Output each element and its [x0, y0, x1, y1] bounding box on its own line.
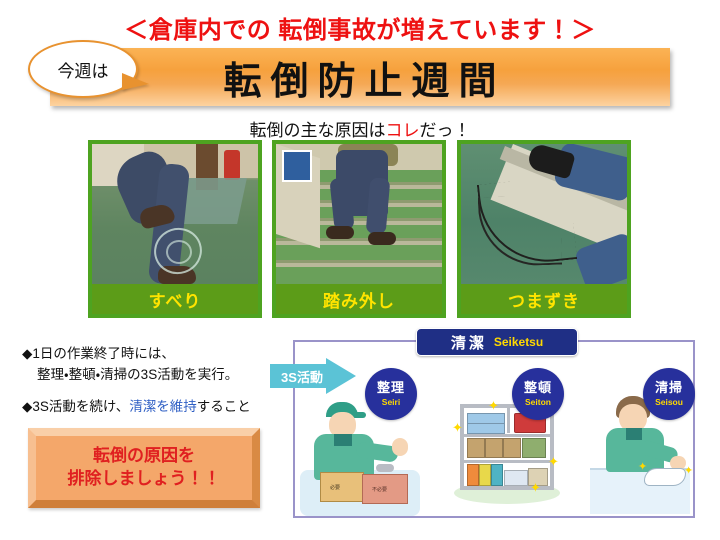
panel-rule-right — [576, 340, 695, 342]
photo-card-trip: つまずき — [457, 140, 631, 318]
shelf-item-tray-2 — [467, 423, 505, 434]
sparkle-icon: ✦ — [638, 460, 647, 473]
worker-hand — [392, 438, 408, 456]
badge-seiton: 整頓 Seiton — [512, 368, 564, 420]
bullet-1-line-2: 整理・整頓・清掃の3S活動を実行。 — [37, 365, 238, 386]
safety-poster: ＜倉庫内での 転倒事故が増えています！＞ 転倒防止週間 今週は 転倒の主な原因は… — [0, 0, 720, 540]
shelf-item-drawer-2 — [485, 438, 503, 458]
speech-bubble-tail — [122, 74, 148, 89]
bullet-1-continuation: 整理・整頓・清掃の3S活動を実行。 — [37, 365, 292, 386]
cta-line-1: 転倒の原因を — [93, 445, 195, 468]
subtitle-highlight: コレ — [386, 121, 420, 140]
photo-floor-mat — [179, 178, 247, 224]
badge-seiri: 整理 Seiri — [365, 368, 417, 420]
shelf-item-books — [522, 438, 546, 458]
sorted-part-icon — [376, 464, 394, 472]
shelf-divider — [507, 408, 510, 433]
badge-seiri-romaji: Seiri — [382, 397, 400, 407]
box-unneeded-label: 不必要 — [372, 486, 387, 493]
badge-seisou-ja: 清掃 — [655, 381, 683, 395]
photo-person-shoe-right — [368, 232, 396, 245]
sparkle-icon: ✦ — [452, 420, 463, 436]
badge-seisou-romaji: Seisou — [655, 397, 683, 407]
bullet-2-prefix: ◆3S活動を続け、 — [22, 397, 129, 418]
cleaning-cloth — [644, 468, 686, 486]
badge-seiri-ja: 整理 — [377, 381, 405, 395]
bullet-2-highlight: 清潔を維持 — [129, 397, 197, 418]
box-needed — [320, 472, 364, 502]
photo-wet-patch-inner — [166, 240, 192, 264]
photo-image-misstep — [276, 144, 442, 284]
badge-seisou: 清掃 Seisou — [643, 368, 695, 420]
speech-bubble-label: 今週は — [58, 57, 109, 82]
photo-person-shoe-left — [326, 226, 354, 239]
photo-card-misstep: 踏み外し — [272, 140, 446, 318]
call-to-action-box: 転倒の原因を 排除しましょう！！ — [28, 428, 260, 508]
shelf-item-file — [504, 470, 528, 486]
shelf-item-drawer-3 — [503, 438, 521, 458]
photo-caption: すべり — [92, 284, 258, 314]
photo-wall-poster — [282, 150, 312, 182]
bullet-item-1: ◆1日の作業終了時には、 — [22, 344, 292, 365]
photo-caption: つまずき — [461, 284, 627, 314]
badge-seiton-ja: 整頓 — [524, 381, 552, 395]
fire-extinguisher-icon — [224, 150, 240, 180]
photo-caption: 踏み外し — [276, 284, 442, 314]
shelf-item-drawer-1 — [467, 438, 485, 458]
shelf-item-bottle-2 — [479, 464, 491, 486]
subtitle-prefix: 転倒の主な原因は — [250, 121, 386, 140]
worker-collar — [334, 434, 352, 446]
cta-line-2: 排除しましょう！！ — [68, 468, 221, 491]
badge-seiton-romaji: Seiton — [525, 397, 551, 407]
photo-stair-1 — [276, 266, 442, 284]
photo-image-slip — [92, 144, 258, 284]
sparkle-icon: ✦ — [548, 454, 559, 470]
seiketsu-badge-romaji: Seiketsu — [494, 335, 543, 349]
page-headline: ＜倉庫内での 転倒事故が増えています！＞ — [0, 10, 720, 45]
arrow-head-icon — [326, 358, 356, 394]
subtitle-suffix: だっ！ — [420, 121, 471, 140]
worker-collar — [626, 428, 642, 440]
bullet-item-2: ◆3S活動を続け、清潔を維持すること — [22, 397, 292, 418]
photo-stair-2 — [276, 244, 442, 263]
panel-rule-left — [293, 340, 416, 342]
bullet-list: ◆1日の作業終了時には、 整理・整頓・清掃の3S活動を実行。 ◆3S活動を続け、… — [22, 344, 292, 418]
shelf-level-2 — [464, 460, 550, 463]
subtitle: 転倒の主な原因はコレだっ！ — [0, 116, 720, 141]
photo-cable-secondary — [478, 195, 562, 268]
bullet-2-suffix: すること — [197, 397, 251, 418]
activity-arrow: 3S活動 — [270, 358, 358, 394]
shelf-item-bottle-3 — [491, 464, 503, 486]
shelf-item-bottle-1 — [467, 464, 479, 486]
seiketsu-badge: 清潔 Seiketsu — [416, 328, 578, 356]
photo-row: すべり — [0, 140, 720, 320]
seiketsu-badge-ja: 清潔 — [451, 332, 487, 353]
shelf-level-1 — [464, 434, 550, 437]
sparkle-icon: ✦ — [488, 398, 499, 414]
sparkle-icon: ✦ — [530, 480, 541, 496]
photo-image-trip — [461, 144, 627, 284]
bullet-1-line-1: ◆1日の作業終了時には、 — [22, 344, 175, 365]
photo-card-slip: すべり — [88, 140, 262, 318]
arrow-label: 3S活動 — [274, 366, 330, 386]
sparkle-icon: ✦ — [684, 464, 693, 477]
box-needed-label: 必要 — [330, 484, 340, 491]
